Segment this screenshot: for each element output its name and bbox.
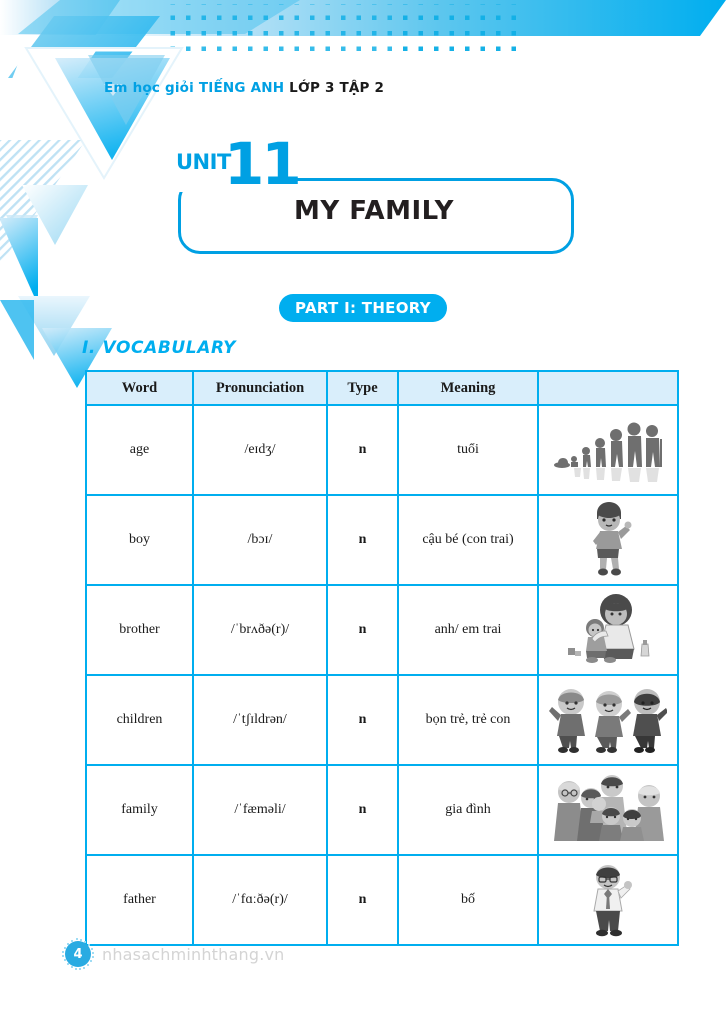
- cell-type: n: [327, 675, 398, 765]
- cell-word: boy: [86, 495, 193, 585]
- cell-word: children: [86, 675, 193, 765]
- column-header-image: [538, 371, 678, 405]
- table-row: boy /bɔɪ/ n cậu bé (con trai): [86, 495, 678, 585]
- cell-type: n: [327, 405, 398, 495]
- cell-image: [538, 675, 678, 765]
- page-number: 4: [65, 941, 91, 967]
- column-header-pronunciation: Pronunciation: [193, 371, 327, 405]
- column-header-meaning: Meaning: [398, 371, 538, 405]
- cell-image: [538, 585, 678, 675]
- extended-family-group-image: [549, 772, 667, 848]
- cell-word: father: [86, 855, 193, 945]
- unit-name: MY FAMILY: [176, 196, 572, 226]
- cell-type: n: [327, 585, 398, 675]
- cell-image: [538, 855, 678, 945]
- cell-pronunciation: /ˈfɑːðə(r)/: [193, 855, 327, 945]
- cell-meaning: bố: [398, 855, 538, 945]
- cell-word: family: [86, 765, 193, 855]
- cell-type: n: [327, 495, 398, 585]
- cell-pronunciation: /eɪdʒ/: [193, 405, 327, 495]
- cell-image: [538, 405, 678, 495]
- table-row: family /ˈfæməli/ n gia đình: [86, 765, 678, 855]
- vocabulary-table: Word Pronunciation Type Meaning age /eɪd…: [85, 370, 679, 946]
- cell-word: brother: [86, 585, 193, 675]
- page-number-badge: 4: [62, 938, 94, 970]
- cell-word: age: [86, 405, 193, 495]
- cell-pronunciation: /ˈbrʌðə(r)/: [193, 585, 327, 675]
- cell-pronunciation: /ˈfæməli/: [193, 765, 327, 855]
- three-children-jumping-image: [549, 684, 667, 756]
- publisher-url: nhasachminhthang.vn: [102, 945, 285, 964]
- unit-number: 11: [224, 135, 299, 193]
- book-series-title-vn: Em học giỏi TIẾNG ANH: [104, 80, 284, 96]
- cell-image: [538, 495, 678, 585]
- table-row: age /eɪdʒ/ n tuổi: [86, 405, 678, 495]
- section-heading-vocabulary: I. VOCABULARY: [82, 338, 236, 358]
- cell-type: n: [327, 855, 398, 945]
- cell-meaning: gia đình: [398, 765, 538, 855]
- table-header-row: Word Pronunciation Type Meaning: [86, 371, 678, 405]
- cell-meaning: anh/ em trai: [398, 585, 538, 675]
- unit-title-block: UNIT 11 MY FAMILY: [176, 148, 578, 258]
- page-footer: 4 nhasachminhthang.vn: [62, 938, 285, 970]
- column-header-type: Type: [327, 371, 398, 405]
- column-header-word: Word: [86, 371, 193, 405]
- table-row: brother /ˈbrʌðə(r)/ n anh/ em trai: [86, 585, 678, 675]
- cell-pronunciation: /ˈtʃɪldrən/: [193, 675, 327, 765]
- brother-hugging-baby-image: [562, 592, 654, 668]
- cell-meaning: bọn trẻ, trẻ con: [398, 675, 538, 765]
- cell-pronunciation: /bɔɪ/: [193, 495, 327, 585]
- table-row: father /ˈfɑːðə(r)/ n bố: [86, 855, 678, 945]
- cell-type: n: [327, 765, 398, 855]
- part-badge: PART I: THEORY: [279, 294, 447, 322]
- cell-image: [538, 765, 678, 855]
- father-waving-image: [578, 861, 638, 939]
- boy-standing-image: [573, 501, 643, 579]
- book-series-header: Em học giỏi TIẾNG ANH LỚP 3 TẬP 2: [104, 80, 384, 96]
- unit-label: UNIT: [176, 150, 231, 174]
- book-series-grade: LỚP 3 TẬP 2: [289, 80, 384, 96]
- ages-of-man-silhouettes-image: [548, 415, 668, 485]
- cell-meaning: tuổi: [398, 405, 538, 495]
- table-row: children /ˈtʃɪldrən/ n bọn trẻ, trẻ con: [86, 675, 678, 765]
- cell-meaning: cậu bé (con trai): [398, 495, 538, 585]
